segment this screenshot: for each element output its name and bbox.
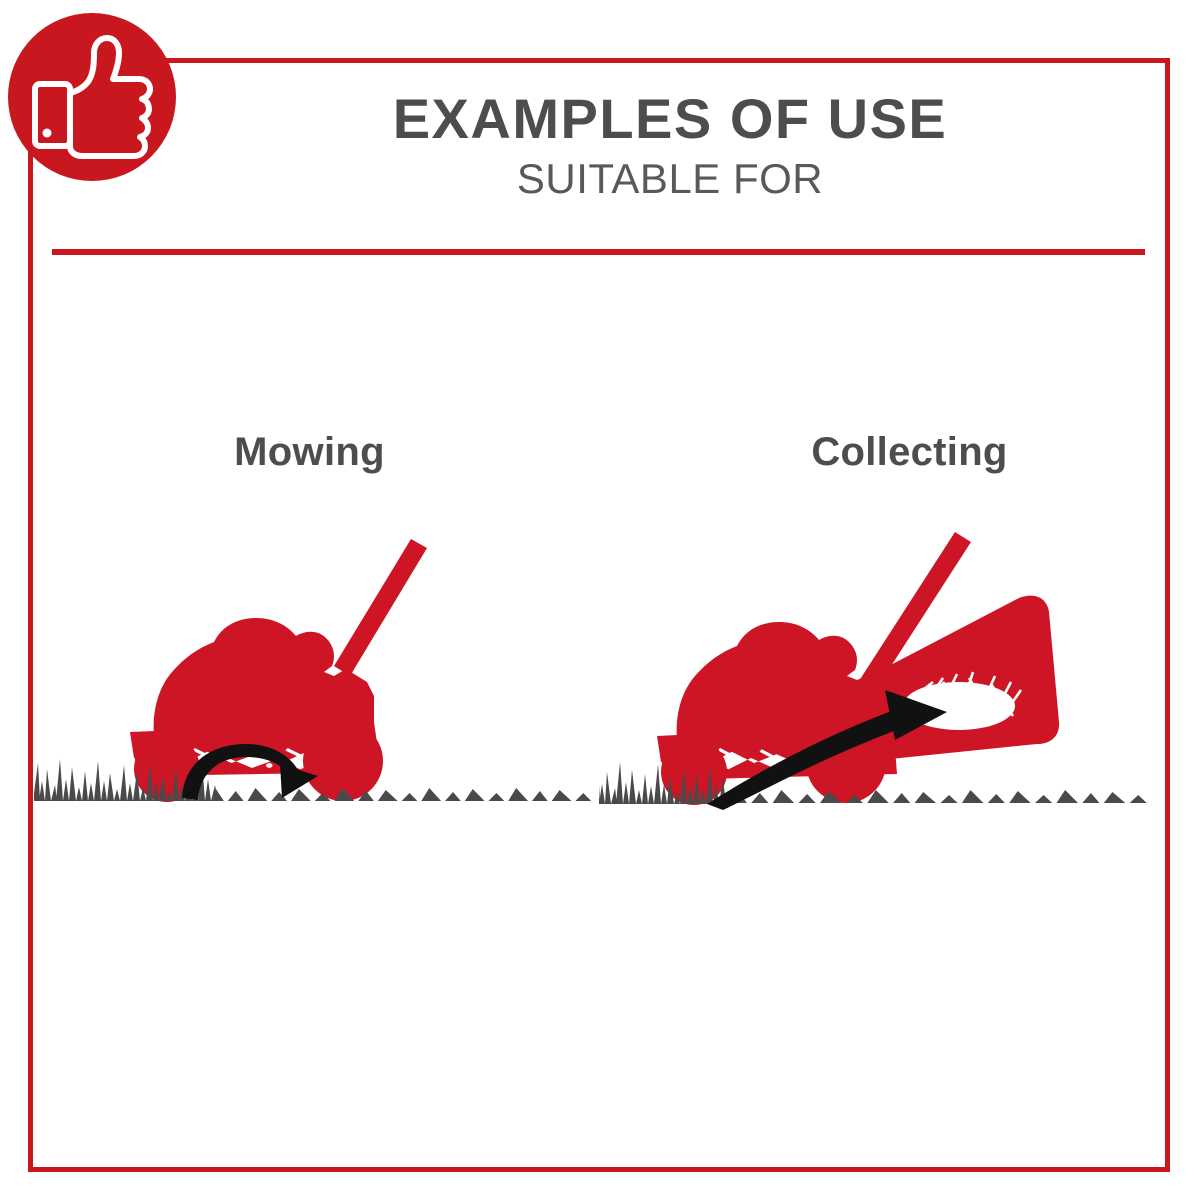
panel-collecting: Collecting — [599, 430, 1164, 850]
panel-mowing: Mowing — [34, 430, 599, 850]
examples-of-use-card: EXAMPLES OF USE SUITABLE FOR Mowing — [0, 0, 1200, 1200]
page-subtitle: SUITABLE FOR — [190, 155, 1150, 203]
cut-grass — [734, 790, 1147, 803]
lawn-mower-collecting-illustration — [599, 526, 1164, 846]
examples-panels: Mowing — [34, 430, 1164, 850]
panel-label-collecting: Collecting — [627, 430, 1192, 475]
card-header: EXAMPLES OF USE SUITABLE FOR — [190, 90, 1150, 203]
lawn-mower-mulching-illustration — [34, 526, 599, 846]
panel-label-mowing: Mowing — [27, 430, 592, 475]
cut-grass — [212, 788, 591, 801]
mower-handle — [334, 539, 427, 676]
thumbs-up-badge — [8, 13, 176, 181]
header-divider — [52, 249, 1145, 255]
page-title: EXAMPLES OF USE — [190, 90, 1150, 149]
thumbs-up-icon — [8, 13, 176, 181]
